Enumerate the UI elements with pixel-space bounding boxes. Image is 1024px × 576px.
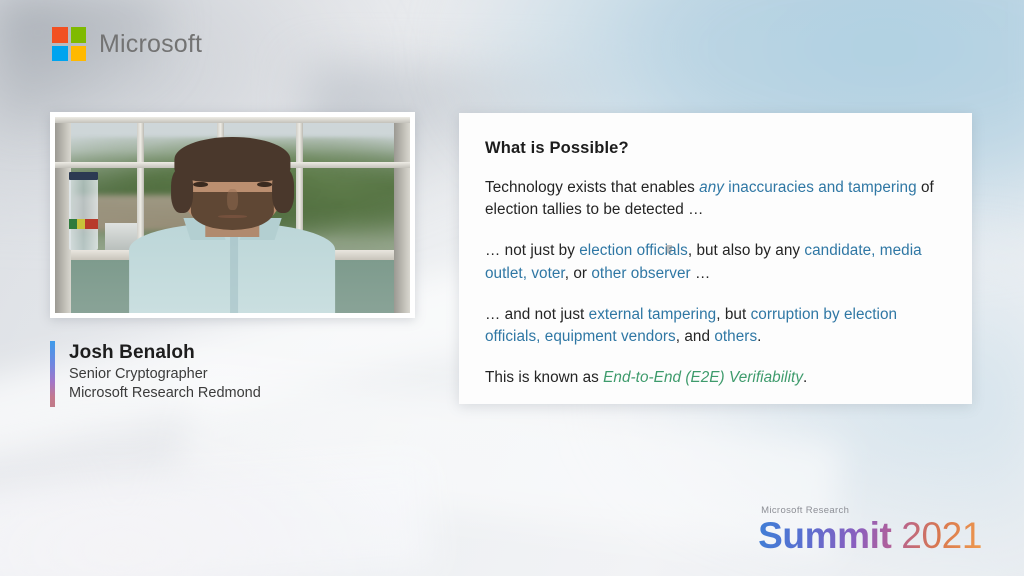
speaker-accent-bar: [50, 341, 55, 407]
video-person-nose: [227, 189, 237, 210]
text-run-highlight-2: inaccuracies and tampering: [724, 179, 917, 196]
slide-paragraph-1: Technology exists that enables any inacc…: [485, 177, 942, 221]
logo-tile-green: [71, 27, 87, 43]
video-person-brow-left: [189, 175, 210, 179]
speaker-title: Senior Cryptographer: [69, 365, 261, 384]
video-person-eye-left: [193, 182, 207, 188]
text-run-plain-2: , but also by any: [688, 242, 805, 259]
video-bottle: [69, 176, 97, 250]
text-run-plain-4: , or: [565, 265, 592, 282]
logo-tile-yellow: [71, 46, 87, 62]
video-window-head: [55, 117, 410, 123]
text-run-plain-0: … and not just: [485, 306, 589, 323]
speaker-text: Josh Benaloh Senior Cryptographer Micros…: [69, 341, 261, 407]
logo-tile-blue: [52, 46, 68, 62]
video-person: [130, 141, 336, 313]
microsoft-wordmark: Microsoft: [99, 30, 202, 59]
text-run-plain-0: Technology exists that enables: [485, 179, 699, 196]
text-run-highlight-1: external tampering: [589, 306, 717, 323]
text-run-plain-0: This is known as: [485, 369, 603, 386]
video-person-brow-right: [255, 175, 276, 179]
mouse-cursor-artifact: [666, 245, 672, 254]
video-window-frame-right: [394, 117, 410, 313]
video-person-mouth: [218, 215, 247, 218]
microsoft-logo: Microsoft: [52, 27, 202, 61]
speaker-video-tile[interactable]: [50, 112, 415, 318]
speaker-name: Josh Benaloh: [69, 341, 261, 365]
text-run-highlight-5: other observer: [591, 265, 690, 282]
speaker-video-feed[interactable]: [55, 117, 410, 313]
slide-title: What is Possible?: [485, 139, 942, 158]
text-run-plain-2: .: [803, 369, 807, 386]
slide-paragraph-4: This is known as End-to-End (E2E) Verifi…: [485, 367, 942, 389]
slide-paragraph-3: … and not just external tampering, but c…: [485, 304, 942, 348]
presentation-slide[interactable]: What is Possible? Technology exists that…: [459, 113, 972, 404]
text-run-highlight-5: others: [714, 328, 757, 345]
summit-logo: Microsoft Research Summit 2021: [758, 505, 982, 554]
summit-name: Summit: [758, 515, 891, 556]
video-bottle-label: [69, 219, 97, 229]
summit-year: 2021: [901, 515, 982, 556]
speaker-info-block: Josh Benaloh Senior Cryptographer Micros…: [50, 341, 261, 407]
slide-paragraph-2: … not just by election officials, but al…: [485, 240, 942, 284]
text-run-plain-2: , but: [716, 306, 750, 323]
text-run-plain-0: … not just by: [485, 242, 579, 259]
video-person-eye-right: [257, 182, 271, 188]
text-run-plain-6: …: [691, 265, 711, 282]
text-run-highlight-italic-1: any: [699, 179, 724, 196]
microsoft-logo-icon: [52, 27, 86, 61]
logo-tile-red: [52, 27, 68, 43]
text-run-plain-4: , and: [676, 328, 715, 345]
video-bottle-cap: [69, 172, 97, 180]
summit-wordmark: Summit 2021: [758, 517, 982, 554]
text-run-plain-6: .: [757, 328, 761, 345]
video-person-shirt-placket: [230, 227, 237, 313]
speaker-affiliation: Microsoft Research Redmond: [69, 384, 261, 403]
text-run-green-italic-1: End-to-End (E2E) Verifiability: [603, 369, 803, 386]
